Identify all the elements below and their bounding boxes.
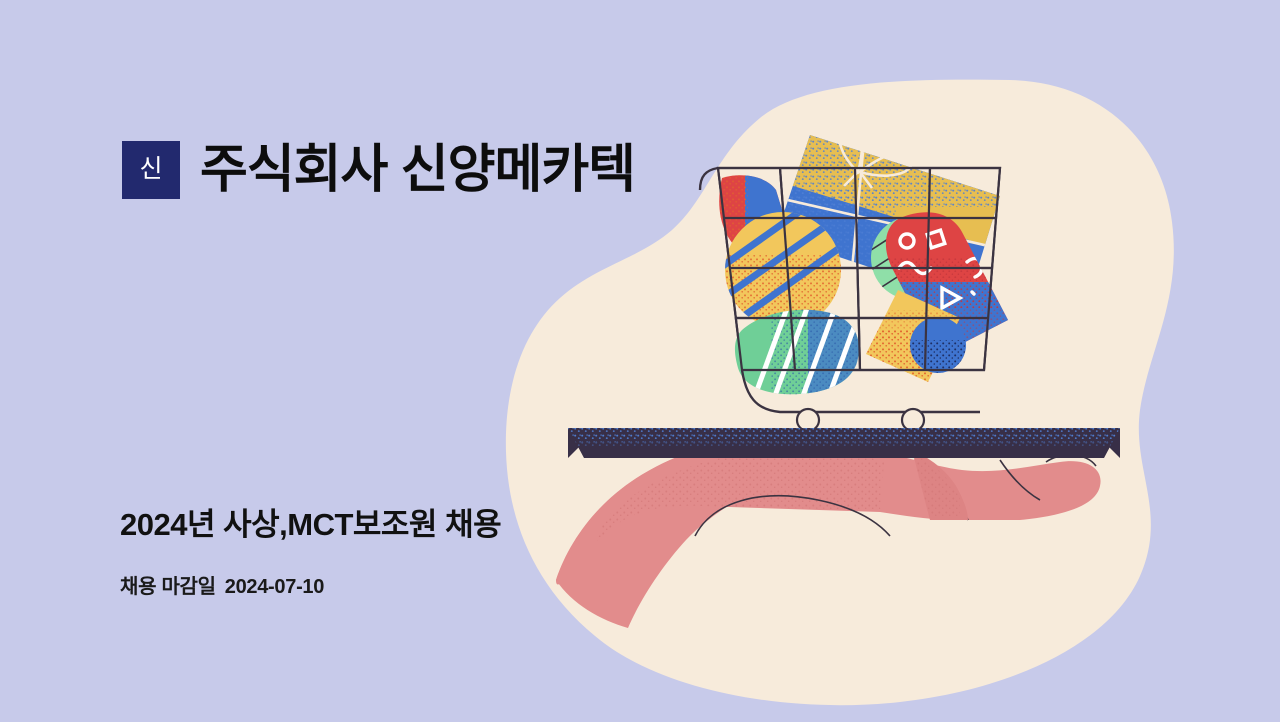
company-name: 주식회사 신양메카텍 (200, 144, 635, 196)
job-title: 2024년 사상,MCT보조원 채용 (120, 506, 501, 543)
platform-bar (560, 426, 1130, 458)
deadline-row: 채용 마감일2024-07-10 (120, 575, 324, 599)
company-header: 신 주식회사 신양메카텍 (122, 131, 635, 209)
illustration-hand-holding-shopping-cart (0, 0, 1280, 722)
deadline-label: 채용 마감일 (120, 576, 216, 598)
company-badge-icon: 신 (122, 141, 180, 199)
job-posting-banner: 신 주식회사 신양메카텍 2024년 사상,MCT보조원 채용 채용 마감일20… (0, 0, 1280, 722)
deadline-value: 2024-07-10 (225, 576, 324, 598)
